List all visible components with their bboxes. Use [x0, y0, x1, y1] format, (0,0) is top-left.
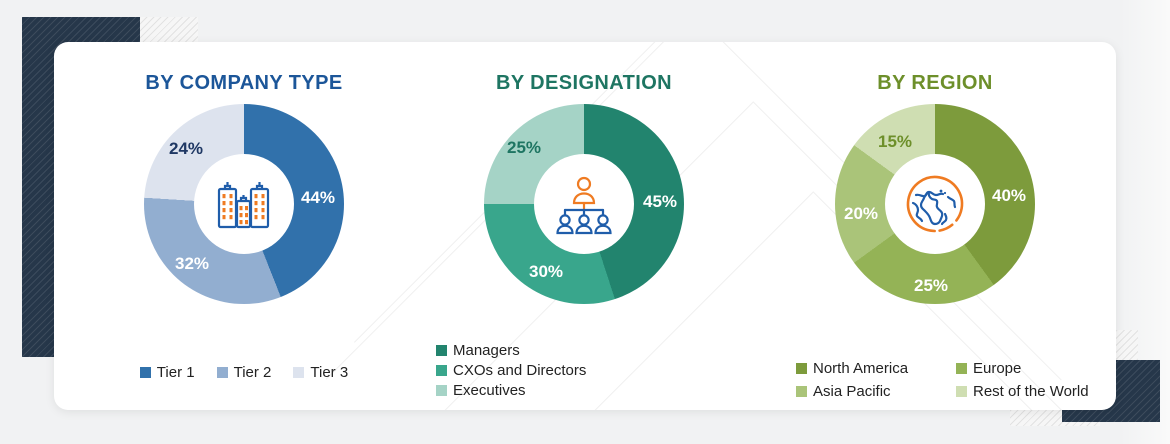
legend-label-tier3: Tier 3	[310, 364, 348, 381]
donut-chart-designation: 45% 30% 25%	[484, 104, 684, 304]
donut-label-europe: 25%	[914, 276, 948, 296]
panel-by-company-type: BY COMPANY TYPE 44% 32% 24%	[64, 42, 424, 410]
legend-swatch-executives	[436, 385, 447, 396]
legend-item-tier1[interactable]: Tier 1	[140, 364, 195, 381]
legend-region: North America Europe Asia Pacific Rest o…	[754, 360, 1116, 406]
legend-item-managers[interactable]: Managers	[436, 342, 520, 359]
legend-swatch-tier2	[217, 367, 228, 378]
office-buildings-icon	[194, 154, 294, 254]
legend-swatch-asia-pacific	[796, 386, 807, 397]
legend-label-north-america: North America	[813, 360, 908, 377]
globe-icon	[885, 154, 985, 254]
panel-title-company-type: BY COMPANY TYPE	[64, 72, 424, 95]
donut-label-managers: 45%	[643, 192, 677, 212]
donut-chart-company-type: 44% 32% 24%	[144, 104, 344, 304]
org-chart-people-icon	[534, 154, 634, 254]
legend-label-tier2: Tier 2	[234, 364, 272, 381]
legend-label-europe: Europe	[973, 360, 1021, 377]
legend-label-executives: Executives	[453, 382, 526, 399]
legend-label-managers: Managers	[453, 342, 520, 359]
legend-swatch-rest-of-the-world	[956, 386, 967, 397]
donut-label-tier2: 32%	[175, 254, 209, 274]
legend-label-cxos: CXOs and Directors	[453, 362, 586, 379]
legend-item-north-america[interactable]: North America	[796, 360, 956, 377]
legend-item-asia-pacific[interactable]: Asia Pacific	[796, 383, 956, 400]
donut-label-north-america: 40%	[992, 186, 1026, 206]
panel-title-region: BY REGION	[754, 72, 1116, 95]
legend-company-type: Tier 1 Tier 2 Tier 3	[64, 364, 424, 381]
legend-swatch-north-america	[796, 363, 807, 374]
legend-item-rest-of-the-world[interactable]: Rest of the World	[956, 383, 1116, 400]
panel-by-region: BY REGION 40% 25% 20% 15%	[754, 42, 1116, 410]
legend-swatch-europe	[956, 363, 967, 374]
legend-item-tier3[interactable]: Tier 3	[293, 364, 348, 381]
legend-swatch-tier1	[140, 367, 151, 378]
legend-designation: Managers CXOs and Directors Executives	[414, 342, 754, 402]
donut-label-rest-of-the-world: 15%	[878, 132, 912, 152]
panel-by-designation: BY DESIGNATION 45% 30% 25%	[414, 42, 754, 410]
legend-item-europe[interactable]: Europe	[956, 360, 1116, 377]
donut-label-tier1: 44%	[301, 188, 335, 208]
donut-label-asia-pacific: 20%	[844, 204, 878, 224]
legend-item-executives[interactable]: Executives	[436, 382, 526, 399]
legend-swatch-cxos	[436, 365, 447, 376]
legend-label-tier1: Tier 1	[157, 364, 195, 381]
panel-title-designation: BY DESIGNATION	[414, 72, 754, 95]
donut-label-cxos: 30%	[529, 262, 563, 282]
legend-swatch-tier3	[293, 367, 304, 378]
legend-label-rest-of-the-world: Rest of the World	[973, 383, 1089, 400]
donut-chart-region: 40% 25% 20% 15%	[835, 104, 1035, 304]
infographic-card: BY COMPANY TYPE 44% 32% 24%	[54, 42, 1116, 410]
legend-label-asia-pacific: Asia Pacific	[813, 383, 891, 400]
legend-item-cxos[interactable]: CXOs and Directors	[436, 362, 586, 379]
legend-swatch-managers	[436, 345, 447, 356]
legend-item-tier2[interactable]: Tier 2	[217, 364, 272, 381]
